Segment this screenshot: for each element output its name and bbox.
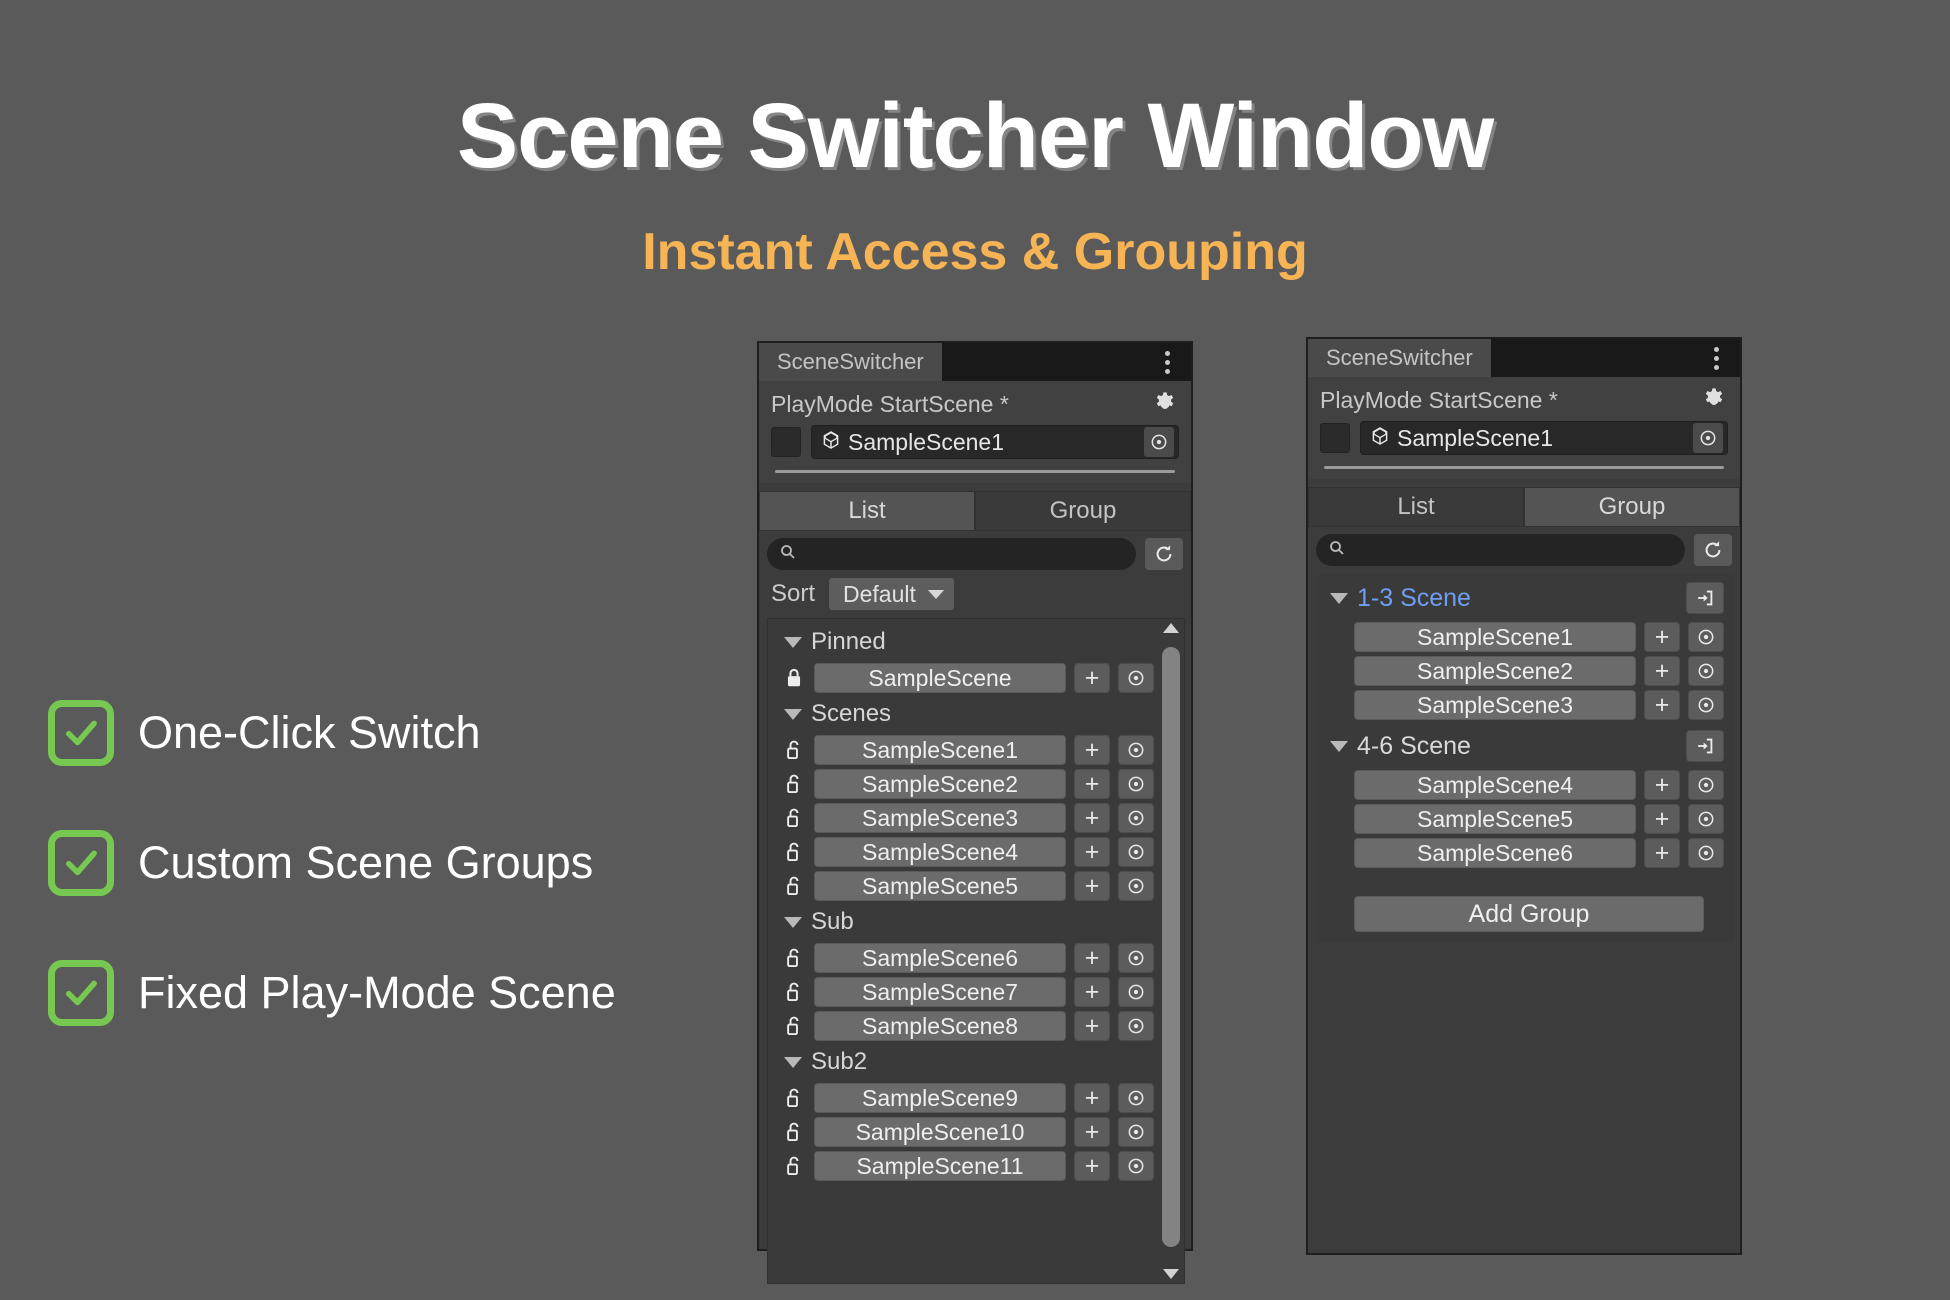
lock-open-icon[interactable]	[782, 839, 806, 865]
playmode-startscene-label: PlayMode StartScene *	[771, 391, 1009, 418]
scene-open-button[interactable]: SampleScene6	[814, 943, 1066, 973]
scene-list-scroll-area[interactable]: PinnedSampleScene+ScenesSampleScene1+Sam…	[767, 618, 1185, 1284]
lock-open-icon[interactable]	[782, 805, 806, 831]
lock-open-icon[interactable]	[782, 737, 806, 763]
object-picker-icon[interactable]	[1688, 770, 1724, 800]
scene-add-additive-button[interactable]: +	[1074, 1083, 1110, 1113]
view-tabs-right: ListGroup	[1308, 487, 1740, 527]
scene-open-button[interactable]: SampleScene3	[1354, 690, 1636, 720]
lock-open-icon[interactable]	[782, 1119, 806, 1145]
triangle-expanded-icon	[784, 637, 802, 648]
scene-open-button[interactable]: SampleScene8	[814, 1011, 1066, 1041]
object-picker-icon[interactable]	[1118, 803, 1154, 833]
triangle-expanded-icon	[784, 917, 802, 928]
group-name: 4-6 Scene	[1357, 732, 1686, 761]
scene-open-button[interactable]: SampleScene2	[1354, 656, 1636, 686]
unity-scene-icon	[1369, 425, 1391, 452]
add-group-button[interactable]: Add Group	[1354, 896, 1704, 932]
load-group-icon[interactable]	[1686, 730, 1724, 762]
triangle-expanded-icon	[784, 709, 802, 720]
scene-open-button[interactable]: SampleScene1	[1354, 622, 1636, 652]
object-picker-icon[interactable]	[1688, 622, 1724, 652]
sort-label: Sort	[771, 580, 815, 608]
scroll-up-arrow-icon[interactable]	[1163, 623, 1179, 633]
scene-open-button[interactable]: SampleScene5	[1354, 804, 1636, 834]
sort-value: Default	[843, 581, 916, 608]
object-picker-icon[interactable]	[1688, 804, 1724, 834]
window-tab-sceneswitcher[interactable]: SceneSwitcher	[759, 343, 942, 381]
scene-row: SampleScene11+	[768, 1149, 1154, 1183]
section-name: Sub	[811, 908, 854, 936]
scene-row: SampleScene9+	[768, 1081, 1154, 1115]
scene-add-additive-button[interactable]: +	[1074, 769, 1110, 799]
lock-open-icon[interactable]	[782, 979, 806, 1005]
object-picker-icon[interactable]	[1118, 1151, 1154, 1181]
scene-add-additive-button[interactable]: +	[1644, 838, 1680, 868]
section-header[interactable]: Scenes	[768, 695, 1154, 733]
playmode-startscene-field[interactable]: SampleScene1	[1360, 421, 1728, 455]
poster-canvas: Scene Switcher Window Instant Access & G…	[0, 0, 1950, 1300]
kebab-menu-icon[interactable]	[1706, 339, 1726, 377]
refresh-icon[interactable]	[1145, 538, 1183, 570]
scene-row: SampleScene5+	[768, 869, 1154, 903]
object-picker-icon[interactable]	[1118, 735, 1154, 765]
gear-icon[interactable]	[1151, 390, 1179, 418]
chevron-down-icon	[928, 590, 944, 599]
object-picker-icon[interactable]	[1688, 656, 1724, 686]
scene-add-additive-button[interactable]: +	[1074, 1151, 1110, 1181]
scene-row: SampleScene6+	[768, 941, 1154, 975]
triangle-expanded-icon	[1330, 593, 1348, 604]
scene-open-button[interactable]: SampleScene11	[814, 1151, 1066, 1181]
sort-row: Sort Default	[759, 574, 1191, 618]
scene-row: SampleScene1+	[768, 733, 1154, 767]
scene-add-additive-button[interactable]: +	[1074, 663, 1110, 693]
scene-open-button[interactable]: SampleScene1	[814, 735, 1066, 765]
window-tabstrip: SceneSwitcher	[1308, 339, 1740, 377]
scene-open-button[interactable]: SampleScene3	[814, 803, 1066, 833]
view-tabs-left: ListGroup	[759, 491, 1191, 531]
group-scene-row: SampleScene6+	[1316, 836, 1734, 870]
group-scene-row: SampleScene4+	[1316, 768, 1734, 802]
group-name: 1-3 Scene	[1357, 584, 1686, 613]
scene-add-additive-button[interactable]: +	[1074, 1117, 1110, 1147]
unity-scene-icon	[820, 429, 842, 456]
playmode-startscene-toggle[interactable]	[1320, 423, 1350, 453]
scene-add-additive-button[interactable]: +	[1074, 871, 1110, 901]
feature-label: Fixed Play-Mode Scene	[138, 967, 616, 1019]
scene-open-button[interactable]: SampleScene10	[814, 1117, 1066, 1147]
playmode-startscene-label: PlayMode StartScene *	[1320, 387, 1558, 414]
scene-row: SampleScene7+	[768, 975, 1154, 1009]
scene-switcher-window-group: SceneSwitcher PlayMode StartScene * Samp…	[1306, 337, 1742, 1255]
scene-open-button[interactable]: SampleScene2	[814, 769, 1066, 799]
vertical-scrollbar[interactable]	[1160, 621, 1182, 1281]
scene-row: SampleScene+	[768, 661, 1154, 695]
load-group-icon[interactable]	[1686, 582, 1724, 614]
feature-row: Custom Scene Groups	[48, 830, 708, 896]
scene-open-button[interactable]: SampleScene7	[814, 977, 1066, 1007]
playmode-startscene-toggle[interactable]	[771, 427, 801, 457]
scene-open-button[interactable]: SampleScene4	[814, 837, 1066, 867]
tab-list[interactable]: List	[759, 491, 975, 531]
section-header[interactable]: Sub	[768, 903, 1154, 941]
triangle-expanded-icon	[784, 1057, 802, 1068]
checkbox-checked-icon	[48, 700, 114, 766]
group-scene-row: SampleScene3+	[1316, 688, 1734, 722]
lock-open-icon[interactable]	[782, 1013, 806, 1039]
group-scene-row: SampleScene2+	[1316, 654, 1734, 688]
window-tab-sceneswitcher[interactable]: SceneSwitcher	[1308, 339, 1491, 377]
object-picker-icon[interactable]	[1688, 838, 1724, 868]
search-row-right	[1308, 527, 1740, 570]
scene-open-button[interactable]: SampleScene6	[1354, 838, 1636, 868]
section-name: Sub2	[811, 1048, 867, 1076]
lock-closed-icon[interactable]	[782, 665, 806, 691]
group-scene-row: SampleScene1+	[1316, 620, 1734, 654]
feature-list: One-Click SwitchCustom Scene GroupsFixed…	[48, 700, 708, 1090]
search-input[interactable]	[767, 538, 1136, 570]
object-picker-icon[interactable]	[1693, 423, 1723, 453]
object-picker-icon[interactable]	[1118, 837, 1154, 867]
lock-open-icon[interactable]	[782, 771, 806, 797]
scene-row: SampleScene10+	[768, 1115, 1154, 1149]
object-picker-icon[interactable]	[1118, 1083, 1154, 1113]
triangle-expanded-icon	[1330, 741, 1348, 752]
object-picker-icon[interactable]	[1118, 769, 1154, 799]
refresh-icon[interactable]	[1694, 534, 1732, 566]
scene-open-button[interactable]: SampleScene4	[1354, 770, 1636, 800]
scrollbar-thumb[interactable]	[1162, 647, 1180, 1247]
scene-add-additive-button[interactable]: +	[1074, 943, 1110, 973]
section-header[interactable]: Pinned	[768, 623, 1154, 661]
page-subtitle: Instant Access & Grouping	[0, 222, 1950, 282]
divider	[1324, 466, 1724, 469]
object-picker-icon[interactable]	[1144, 427, 1174, 457]
scene-row: SampleScene8+	[768, 1009, 1154, 1043]
group-list-area: 1-3 SceneSampleScene1+SampleScene2+Sampl…	[1316, 574, 1734, 942]
lock-open-icon[interactable]	[782, 873, 806, 899]
scene-add-additive-button[interactable]: +	[1074, 735, 1110, 765]
scene-row: SampleScene3+	[768, 801, 1154, 835]
tab-list[interactable]: List	[1308, 487, 1524, 527]
object-picker-icon[interactable]	[1118, 943, 1154, 973]
playmode-startscene-value: SampleScene1	[1397, 425, 1687, 452]
search-input[interactable]	[1316, 534, 1685, 566]
object-picker-icon[interactable]	[1118, 1117, 1154, 1147]
feature-row: One-Click Switch	[48, 700, 708, 766]
scene-add-additive-button[interactable]: +	[1644, 804, 1680, 834]
object-picker-icon[interactable]	[1118, 1011, 1154, 1041]
page-title: Scene Switcher Window	[0, 84, 1950, 189]
search-row-left	[759, 531, 1191, 574]
scene-switcher-window-list: SceneSwitcher PlayMode StartScene * Samp…	[757, 341, 1193, 1251]
object-picker-icon[interactable]	[1118, 871, 1154, 901]
scene-add-additive-button[interactable]: +	[1074, 977, 1110, 1007]
gear-icon[interactable]	[1700, 386, 1728, 414]
playmode-startscene-value: SampleScene1	[848, 429, 1138, 456]
scene-open-button[interactable]: SampleScene	[814, 663, 1066, 693]
feature-label: One-Click Switch	[138, 707, 481, 759]
playmode-startscene-field[interactable]: SampleScene1	[811, 425, 1179, 459]
section-name: Scenes	[811, 700, 891, 728]
group-scene-row: SampleScene5+	[1316, 802, 1734, 836]
scene-open-button[interactable]: SampleScene5	[814, 871, 1066, 901]
object-picker-icon[interactable]	[1118, 663, 1154, 693]
lock-open-icon[interactable]	[782, 945, 806, 971]
lock-open-icon[interactable]	[782, 1085, 806, 1111]
scene-add-additive-button[interactable]: +	[1644, 770, 1680, 800]
sort-dropdown[interactable]: Default	[829, 578, 954, 610]
search-icon	[1328, 539, 1346, 562]
object-picker-icon[interactable]	[1118, 977, 1154, 1007]
checkbox-checked-icon	[48, 830, 114, 896]
group-header[interactable]: 1-3 Scene	[1316, 574, 1734, 620]
object-picker-icon[interactable]	[1688, 690, 1724, 720]
playmode-startscene-bar: PlayMode StartScene * SampleScene1	[759, 381, 1191, 483]
scene-row: SampleScene2+	[768, 767, 1154, 801]
section-header[interactable]: Sub2	[768, 1043, 1154, 1081]
scene-add-additive-button[interactable]: +	[1644, 690, 1680, 720]
kebab-menu-icon[interactable]	[1157, 343, 1177, 381]
search-icon	[779, 543, 797, 566]
window-tabstrip: SceneSwitcher	[759, 343, 1191, 381]
group-header[interactable]: 4-6 Scene	[1316, 722, 1734, 768]
scene-add-additive-button[interactable]: +	[1644, 656, 1680, 686]
scene-add-additive-button[interactable]: +	[1074, 837, 1110, 867]
scene-list-content: PinnedSampleScene+ScenesSampleScene1+Sam…	[768, 619, 1184, 1183]
lock-open-icon[interactable]	[782, 1153, 806, 1179]
checkbox-checked-icon	[48, 960, 114, 1026]
tab-group[interactable]: Group	[975, 491, 1191, 531]
scroll-down-arrow-icon[interactable]	[1163, 1269, 1179, 1279]
scene-add-additive-button[interactable]: +	[1644, 622, 1680, 652]
tab-group[interactable]: Group	[1524, 487, 1740, 527]
section-name: Pinned	[811, 628, 886, 656]
scene-row: SampleScene4+	[768, 835, 1154, 869]
scene-add-additive-button[interactable]: +	[1074, 1011, 1110, 1041]
playmode-startscene-bar: PlayMode StartScene * SampleScene1	[1308, 377, 1740, 479]
feature-label: Custom Scene Groups	[138, 837, 593, 889]
scene-open-button[interactable]: SampleScene9	[814, 1083, 1066, 1113]
divider	[775, 470, 1175, 473]
scene-add-additive-button[interactable]: +	[1074, 803, 1110, 833]
feature-row: Fixed Play-Mode Scene	[48, 960, 708, 1026]
